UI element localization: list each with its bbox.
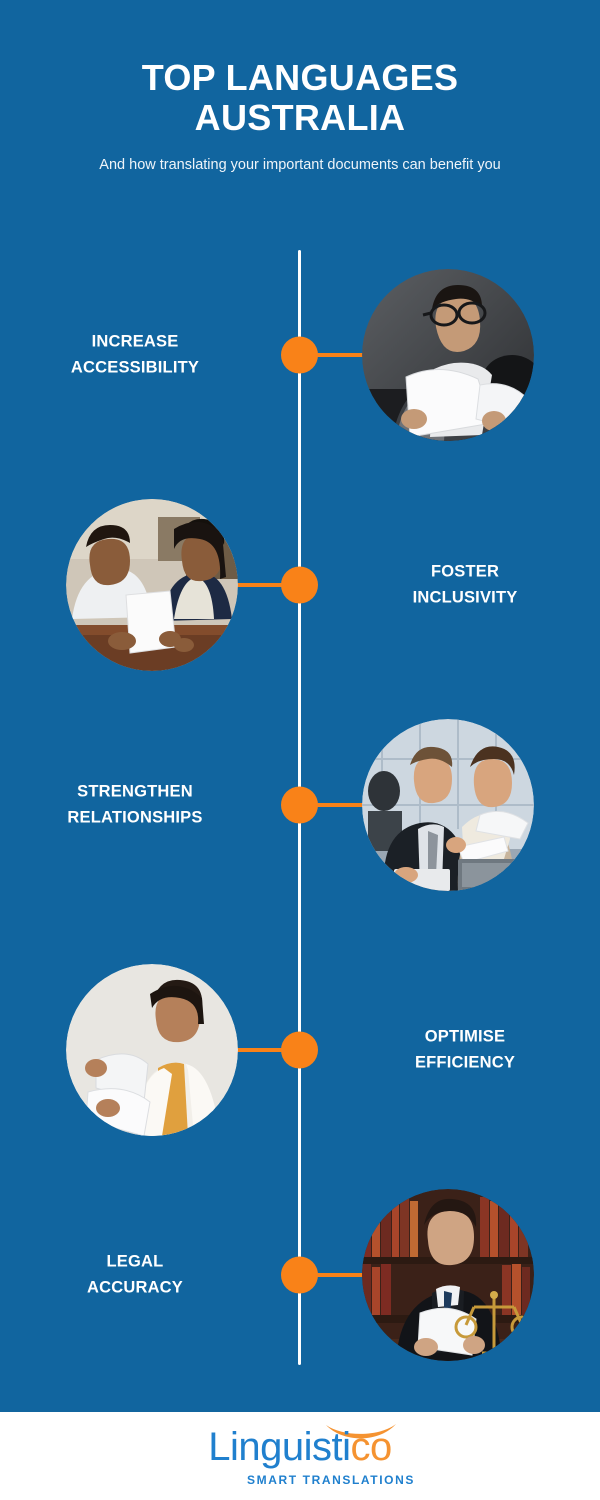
timeline-item-strengthen-relationships: STRENGTHEN RELATIONSHIPS: [0, 715, 600, 895]
logo-text-blue: Linguisti: [208, 1425, 350, 1469]
logo-wordmark: Linguistico: [175, 1427, 425, 1467]
page-title: TOP LANGUAGES AUSTRALIA: [0, 58, 600, 139]
label-line-2: ACCESSIBILITY: [20, 355, 250, 381]
timeline-dot: [281, 1032, 318, 1069]
timeline-item-increase-accessibility: INCREASE ACCESSIBILITY: [0, 265, 600, 445]
logo-text-orange: co: [351, 1425, 392, 1469]
logo-tagline: SMART TRANSLATIONS: [175, 1473, 425, 1487]
label-line-2: INCLUSIVITY: [350, 585, 580, 611]
infographic-poster: TOP LANGUAGES AUSTRALIA And how translat…: [0, 0, 600, 1500]
timeline-item-label: FOSTER INCLUSIVITY: [350, 559, 580, 610]
timeline-item-label: STRENGTHEN RELATIONSHIPS: [20, 779, 250, 830]
label-line-1: LEGAL: [20, 1249, 250, 1275]
page-subtitle: And how translating your important docum…: [85, 155, 515, 176]
label-line-1: OPTIMISE: [350, 1024, 580, 1050]
header: TOP LANGUAGES AUSTRALIA And how translat…: [0, 0, 600, 176]
label-line-1: INCREASE: [20, 329, 250, 355]
title-line-2: AUSTRALIA: [0, 98, 600, 138]
title-line-1: TOP LANGUAGES: [0, 58, 600, 98]
label-line-2: EFFICIENCY: [350, 1050, 580, 1076]
timeline-item-optimise-efficiency: OPTIMISE EFFICIENCY: [0, 960, 600, 1140]
timeline-item-label: INCREASE ACCESSIBILITY: [20, 329, 250, 380]
label-line-1: FOSTER: [350, 559, 580, 585]
timeline-item-label: LEGAL ACCURACY: [20, 1249, 250, 1300]
timeline-item-foster-inclusivity: FOSTER INCLUSIVITY: [0, 495, 600, 675]
timeline-photo-foster-inclusivity: [66, 499, 238, 671]
label-line-2: RELATIONSHIPS: [20, 805, 250, 831]
timeline-item-label: OPTIMISE EFFICIENCY: [350, 1024, 580, 1075]
timeline-photo-optimise-efficiency: [66, 964, 238, 1136]
timeline-item-legal-accuracy: LEGAL ACCURACY: [0, 1185, 600, 1365]
label-line-2: ACCURACY: [20, 1275, 250, 1301]
timeline-photo-strengthen-relationships: [362, 719, 534, 891]
label-line-1: STRENGTHEN: [20, 779, 250, 805]
timeline-dot: [281, 1257, 318, 1294]
timeline-dot: [281, 567, 318, 604]
timeline-photo-legal-accuracy: [362, 1189, 534, 1361]
timeline-dot: [281, 337, 318, 374]
timeline-dot: [281, 787, 318, 824]
footer: Linguistico SMART TRANSLATIONS: [0, 1412, 600, 1500]
linguistico-logo: Linguistico SMART TRANSLATIONS: [175, 1425, 425, 1487]
timeline-photo-increase-accessibility: [362, 269, 534, 441]
